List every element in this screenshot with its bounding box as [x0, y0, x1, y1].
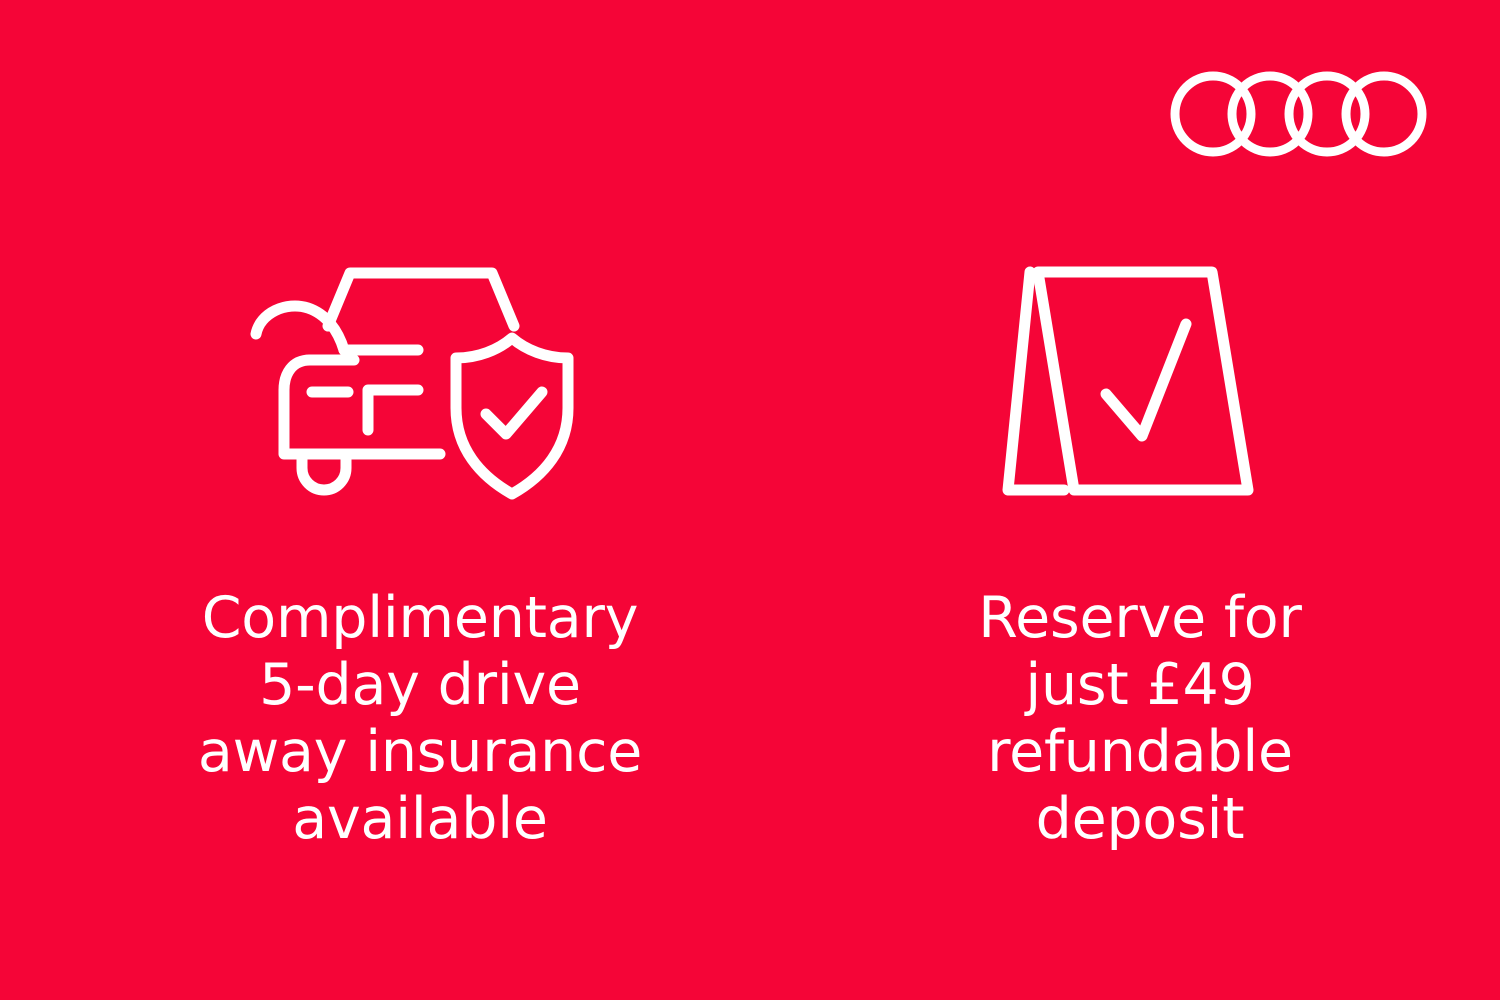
feature-list: Complimentary 5-day drive away insurance…	[0, 0, 1500, 1000]
feature-caption-deposit: Reserve for just £49 refundable deposit	[978, 585, 1301, 853]
car-shield-icon	[250, 258, 590, 506]
feature-caption-insurance: Complimentary 5-day drive away insurance…	[198, 585, 642, 853]
reserve-card-check-icon	[990, 258, 1290, 506]
feature-item-insurance: Complimentary 5-day drive away insurance…	[90, 258, 750, 853]
promo-banner: Complimentary 5-day drive away insurance…	[0, 0, 1500, 1000]
feature-item-deposit: Reserve for just £49 refundable deposit	[910, 258, 1370, 853]
